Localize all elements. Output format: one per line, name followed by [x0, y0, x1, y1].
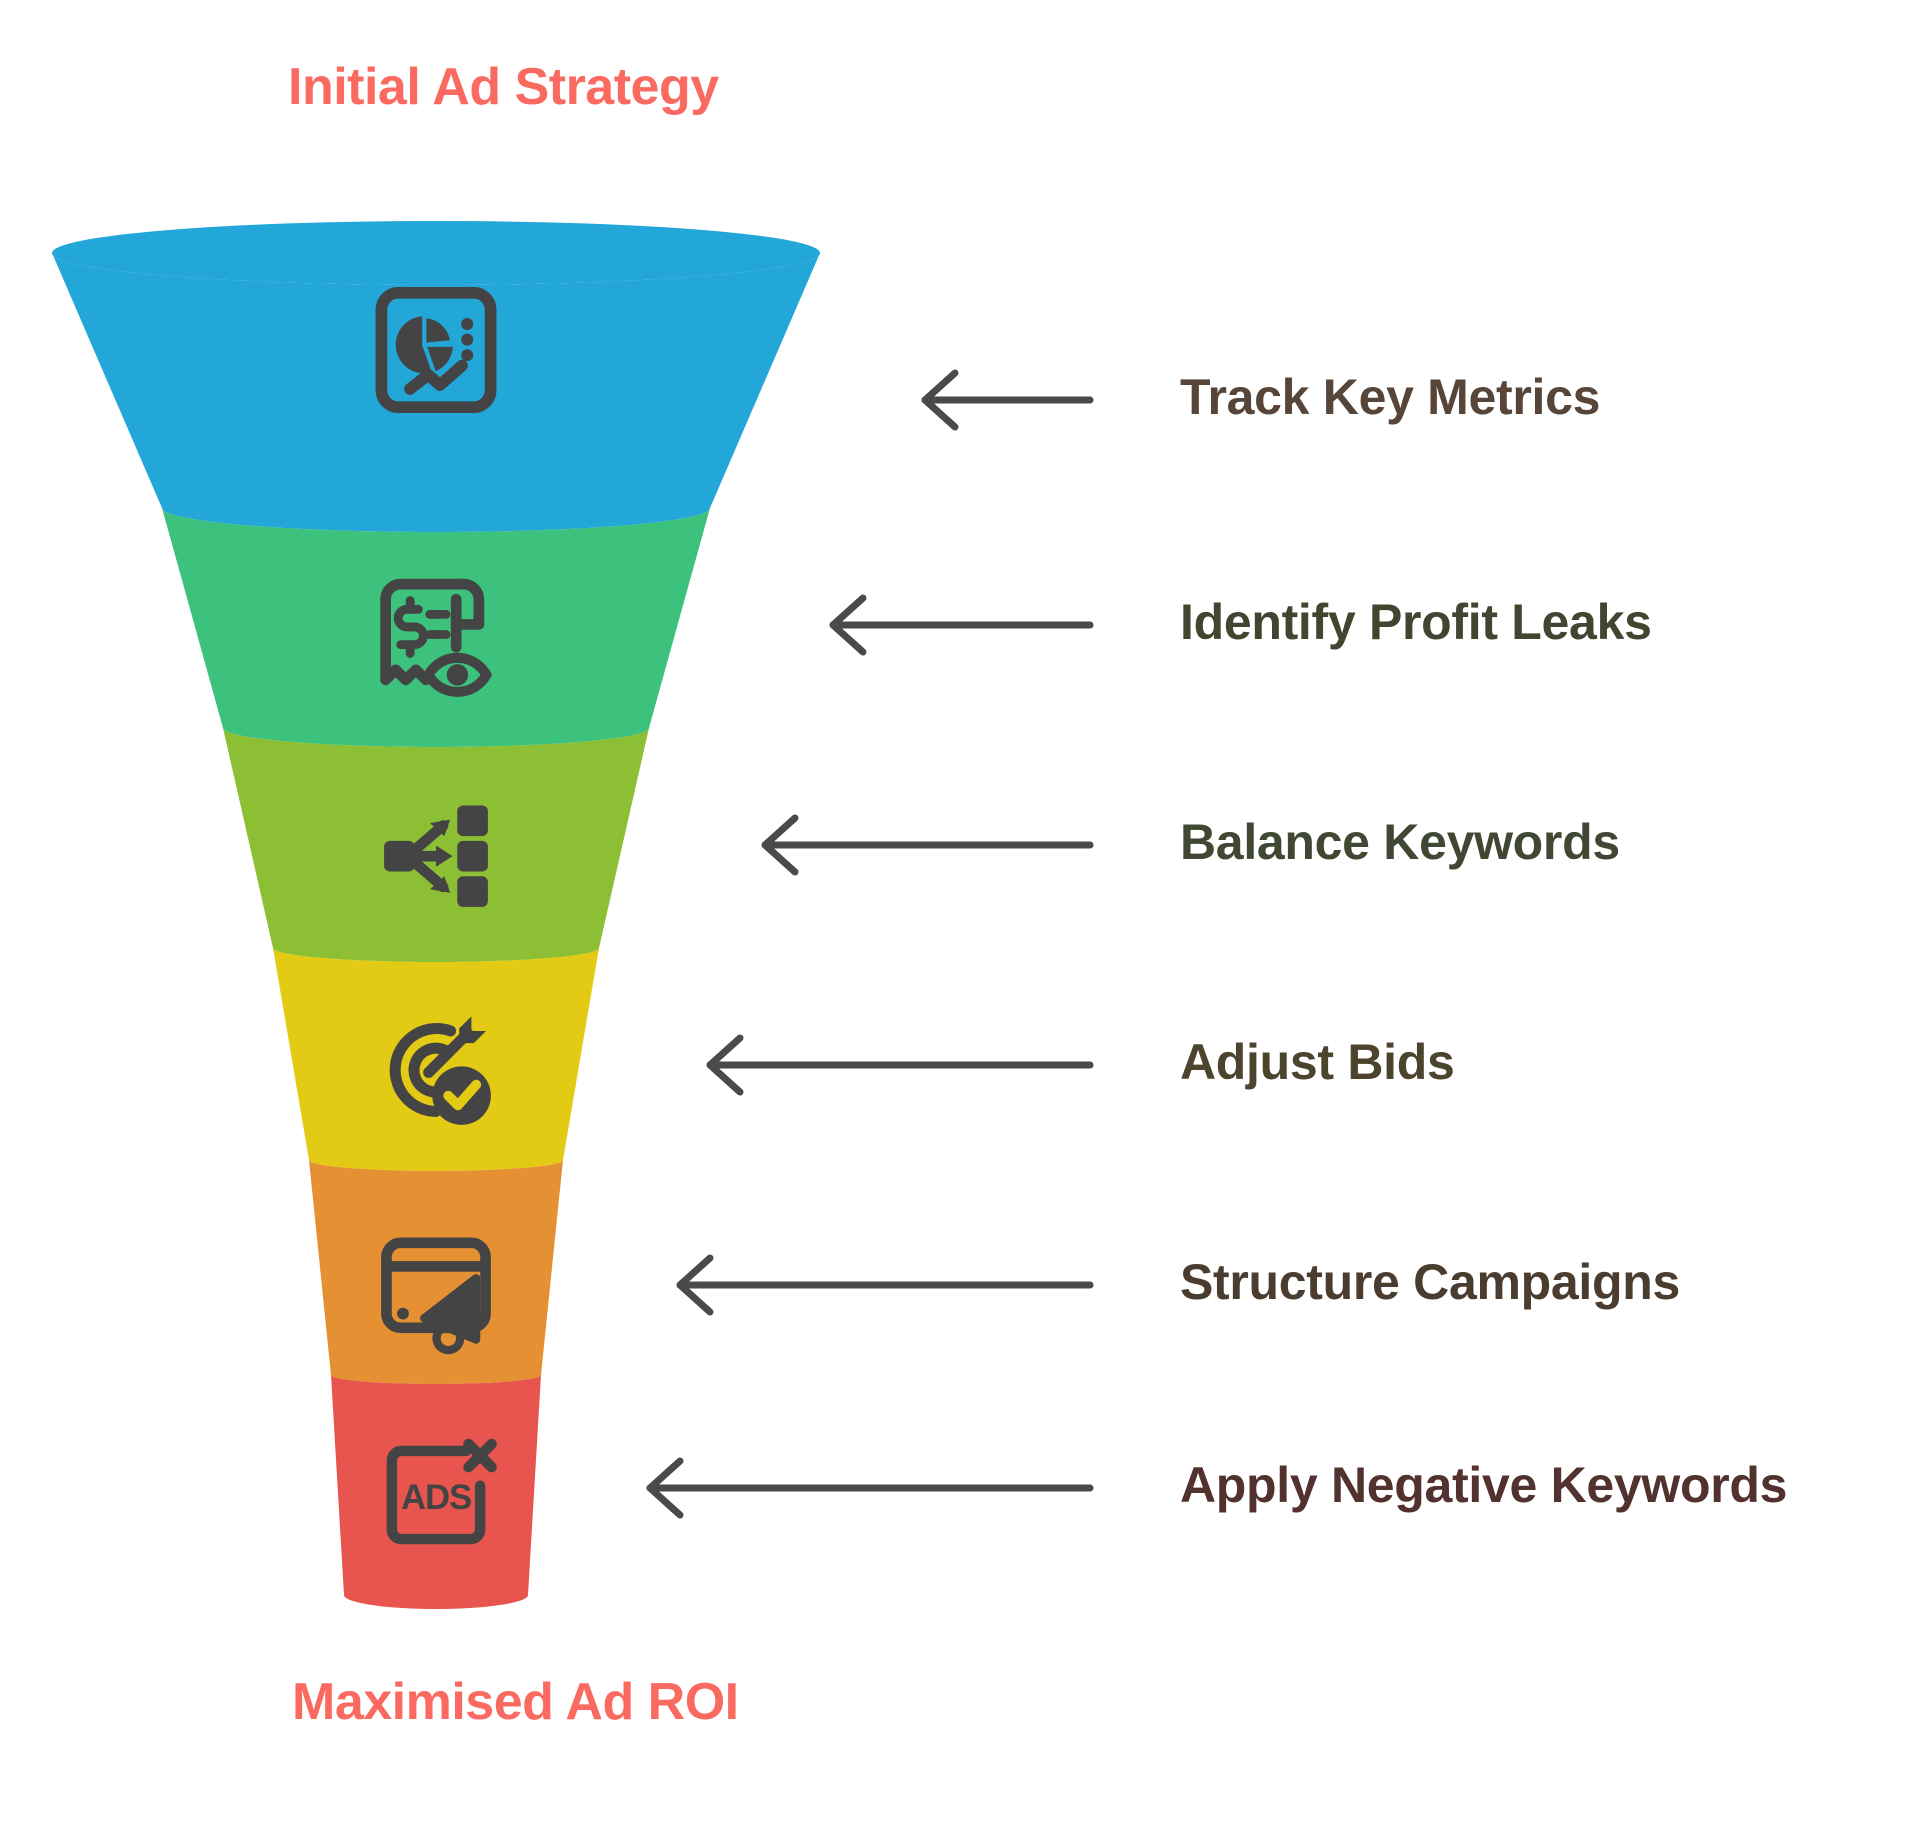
stage-label-4: Adjust Bids — [1180, 1037, 1454, 1087]
connector-arrows — [0, 0, 1907, 1838]
stage-label-5: Structure Campaigns — [1180, 1257, 1680, 1307]
stage-label-3: Balance Keywords — [1180, 817, 1620, 867]
stage-label-1: Track Key Metrics — [1180, 372, 1600, 422]
funnel-diagram: Initial Ad Strategy Maximised Ad ROI ADS… — [0, 0, 1907, 1838]
arrow-to-stage-5 — [680, 1258, 1090, 1312]
stage-label-2: Identify Profit Leaks — [1180, 597, 1652, 647]
arrow-to-stage-6 — [650, 1461, 1090, 1515]
arrow-to-stage-4 — [710, 1038, 1090, 1092]
arrow-to-stage-2 — [833, 598, 1090, 652]
stage-label-6: Apply Negative Keywords — [1180, 1460, 1787, 1510]
arrow-to-stage-1 — [925, 373, 1090, 427]
arrow-to-stage-3 — [765, 818, 1090, 872]
